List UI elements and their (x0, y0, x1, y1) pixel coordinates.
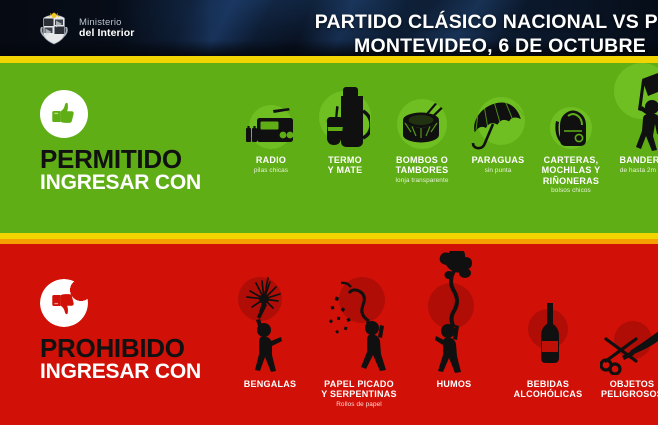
item-flag-sub: de hasta 2m x 1m (608, 167, 658, 174)
allowed-items: RADIO pilas chicas TERMO Y MATE (218, 63, 658, 233)
item-thermos-mate-label: TERMO Y MATE (308, 155, 382, 176)
item-flag-label: BANDERAS (608, 155, 658, 165)
event-title-line1: PARTIDO CLÁSICO NACIONAL VS PEÑ (300, 11, 658, 35)
item-umbrella-label: PARAGUAS (461, 155, 535, 165)
uruguay-coat-of-arms-icon (38, 12, 70, 46)
item-backpack-label: CARTERAS, MOCHILAS Y RIÑONERAS (532, 155, 610, 186)
allowed-heading-line2: INGRESAR CON (40, 172, 201, 194)
confetti-person-icon (325, 275, 397, 375)
forbidden-items: BENGALAS (218, 244, 658, 425)
item-confetti-label: PAPEL PICADO Y SERPENTINAS (313, 379, 405, 400)
event-title-line2: MONTEVIDEO, 6 DE OCTUBRE (300, 35, 658, 56)
item-umbrella-sub: sin punta (461, 167, 535, 174)
item-bottle: BEBIDAS ALCOHÓLICAS (506, 375, 590, 401)
flag-bearer-icon (622, 65, 658, 151)
poster-infographic: Ministerio del Interior PARTIDO CLÁSICO … (0, 0, 658, 425)
allowed-section: PERMITIDO INGRESAR CON (0, 63, 658, 233)
header-banner: Ministerio del Interior PARTIDO CLÁSICO … (0, 0, 658, 56)
item-confetti-sub: Rollos de papel (313, 401, 405, 408)
item-confetti: PAPEL PICADO Y SERPENTINAS Rollos de pap… (313, 375, 405, 408)
knife-scissors-icon (600, 317, 658, 375)
allowed-heading-block: PERMITIDO INGRESAR CON (40, 90, 201, 195)
item-umbrella: PARAGUAS sin punta (461, 151, 535, 174)
drum-icon (395, 101, 451, 151)
item-thermos-mate: TERMO Y MATE (308, 151, 382, 177)
item-backpack: CARTERAS, MOCHILAS Y RIÑONERAS bolsos ch… (532, 151, 610, 195)
item-smoke: HUMOS (416, 375, 492, 391)
divider-stripe-middle (0, 233, 658, 244)
event-title: PARTIDO CLÁSICO NACIONAL VS PEÑ MONTEVID… (300, 11, 658, 56)
thumbs-up-badge (40, 90, 88, 138)
item-drum: BOMBOS O TAMBORES lonja transparente (381, 151, 463, 184)
item-radio: RADIO pilas chicas (234, 151, 308, 174)
forbidden-section: PROHIBIDO INGRESAR CON (0, 244, 658, 425)
forbidden-heading-block: PROHIBIDO INGRESAR CON (40, 279, 201, 384)
item-backpack-sub: bolsos chicos (532, 187, 610, 194)
thermos-mate-icon (322, 85, 370, 153)
flare-person-icon (242, 275, 300, 375)
backpack-icon (554, 107, 592, 151)
bottle-icon (537, 301, 563, 375)
umbrella-icon (469, 97, 529, 153)
item-drum-label: BOMBOS O TAMBORES (381, 155, 463, 176)
divider-stripe-top (0, 56, 658, 63)
item-bottle-label: BEBIDAS ALCOHÓLICAS (506, 379, 590, 400)
forbidden-heading-line1: PROHIBIDO (40, 336, 201, 361)
thumbs-down-icon (50, 289, 78, 317)
thumbs-down-badge (40, 279, 88, 327)
item-smoke-label: HUMOS (416, 379, 492, 389)
item-flare: BENGALAS (230, 375, 310, 391)
radio-icon (243, 107, 301, 149)
allowed-heading-line1: PERMITIDO (40, 147, 201, 172)
item-flare-label: BENGALAS (230, 379, 310, 389)
forbidden-heading-line2: INGRESAR CON (40, 361, 201, 383)
item-flag: BANDERAS de hasta 2m x 1m (608, 151, 658, 174)
ministry-logo-line2: del Interior (79, 28, 134, 40)
item-drum-sub: lonja transparente (381, 177, 463, 184)
item-dangerous-objects: OBJETOS PELIGROSOS (590, 375, 658, 401)
ministry-logo: Ministerio del Interior (38, 12, 134, 46)
item-dangerous-objects-label: OBJETOS PELIGROSOS (590, 379, 658, 400)
smoke-person-icon (426, 251, 488, 375)
item-radio-sub: pilas chicas (234, 167, 308, 174)
item-radio-label: RADIO (234, 155, 308, 165)
thumbs-up-icon (50, 100, 78, 128)
